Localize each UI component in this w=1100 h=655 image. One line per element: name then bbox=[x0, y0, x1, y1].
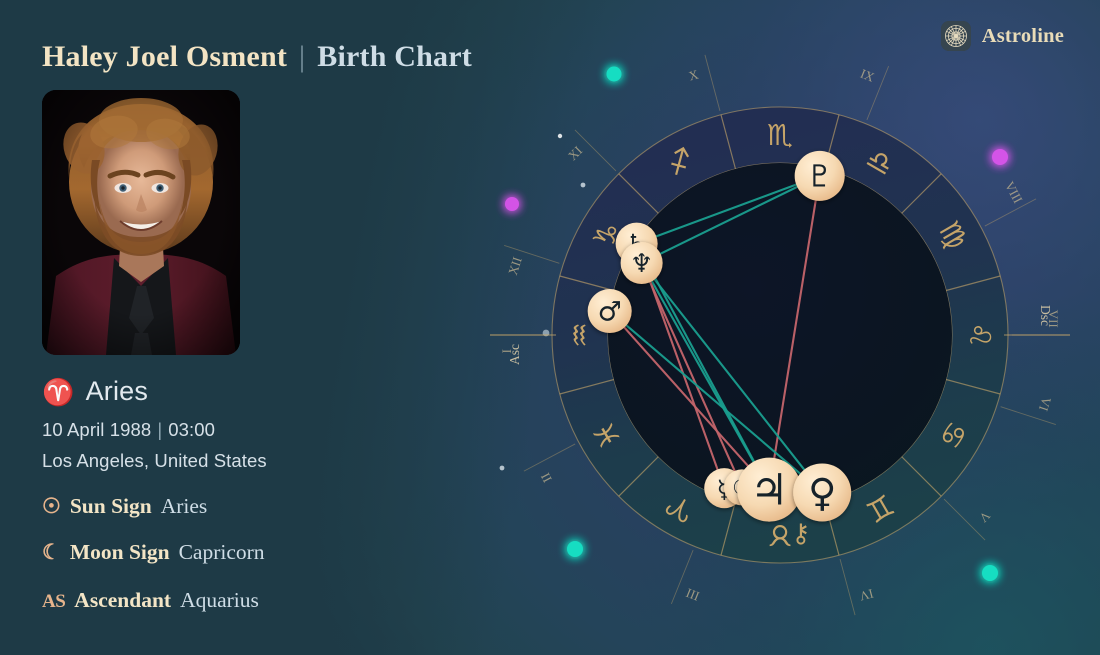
house-label-VI: VI bbox=[1036, 395, 1055, 413]
house-label-VIII: VIII bbox=[1002, 179, 1026, 206]
star-dot bbox=[558, 134, 562, 138]
ascendant-label: Ascendant bbox=[74, 588, 171, 613]
sun-sign-headline: ♈ Aries bbox=[42, 376, 148, 407]
birth-datetime: 10 April 1988|03:00 bbox=[42, 419, 215, 441]
house-label-II: II bbox=[537, 470, 554, 485]
sun-sign-name: Aries bbox=[86, 376, 149, 407]
birth-date: 10 April 1988 bbox=[42, 419, 151, 440]
glow-dot bbox=[607, 67, 622, 82]
planet-marker-pluto[interactable]: ♇ bbox=[795, 151, 845, 201]
house-label-XII: XII bbox=[505, 255, 525, 277]
star-dot bbox=[500, 466, 505, 471]
aries-glyph-icon: ♈ bbox=[42, 379, 75, 405]
planet-glyph-neptune: ♆ bbox=[630, 249, 653, 279]
planet-glyph-mars: ♂ bbox=[598, 297, 622, 328]
moon-sign-value: Capricorn bbox=[179, 540, 265, 565]
birth-chart-svg[interactable]: IIIIIIIVVVIVIIVIIIIXXXIXII ♒♓♈♉♊♋♌♍♎♏♐♑ … bbox=[490, 47, 1070, 627]
house-label-III: III bbox=[684, 585, 702, 604]
house-label-IX: IX bbox=[858, 66, 877, 85]
planet-marker-mars[interactable]: ♂ bbox=[588, 289, 632, 333]
asc-label: Asc bbox=[507, 344, 522, 365]
screenshot-root: Astroline Haley Joel Osment|Birth Chart bbox=[0, 0, 1100, 655]
glyph-chiron: ⚷ bbox=[791, 519, 810, 549]
house-cusp-II bbox=[524, 444, 575, 471]
brand-name: Astroline bbox=[982, 25, 1064, 48]
sun-sign-value: Aries bbox=[161, 494, 208, 519]
sun-icon: ☉ bbox=[42, 496, 61, 517]
glow-dot bbox=[505, 197, 519, 211]
moon-sign-row: ☾ Moon Sign Capricorn bbox=[42, 540, 265, 565]
glow-dot bbox=[992, 149, 1008, 165]
sun-sign-row: ☉ Sun Sign Aries bbox=[42, 494, 207, 519]
house-label-V: V bbox=[976, 508, 994, 526]
birth-place: Los Angeles, United States bbox=[42, 450, 267, 472]
glow-dot bbox=[982, 565, 998, 581]
sun-sign-label: Sun Sign bbox=[70, 494, 152, 519]
inner-body-glyphs: ⚷ bbox=[791, 519, 810, 549]
planet-marker-jupiter[interactable]: ♃ bbox=[737, 458, 801, 522]
zodiac-glyph-leo: ♌ bbox=[963, 322, 997, 348]
planet-glyph-jupiter: ♃ bbox=[750, 466, 788, 516]
house-label-IV: IV bbox=[857, 586, 875, 604]
house-cusp-VIII bbox=[985, 199, 1036, 226]
zodiac-glyph-taurus: ♉ bbox=[767, 518, 793, 552]
house-cusp-V bbox=[944, 499, 985, 540]
moon-icon: ☾ bbox=[42, 542, 61, 563]
planet-marker-venus[interactable]: ♀ bbox=[793, 463, 851, 521]
person-name: Haley Joel Osment bbox=[42, 40, 287, 73]
house-label-X: X bbox=[687, 66, 701, 83]
title-subtitle: Birth Chart bbox=[317, 40, 472, 73]
dsc-label: Dsc bbox=[1038, 305, 1053, 326]
zodiac-glyph-scorpio: ♏ bbox=[767, 118, 793, 152]
star-dot bbox=[581, 183, 586, 188]
ascendant-row: AS Ascendant Aquarius bbox=[42, 588, 259, 613]
glow-dot bbox=[567, 541, 583, 557]
house-cusp-IV bbox=[840, 559, 855, 615]
title-divider: | bbox=[299, 40, 305, 73]
house-cusp-X bbox=[705, 55, 720, 111]
moon-sign-label: Moon Sign bbox=[70, 540, 170, 565]
zodiac-glyph-aquarius: ♒ bbox=[563, 322, 597, 348]
datetime-separator: | bbox=[157, 419, 162, 440]
planet-marker-neptune[interactable]: ♆ bbox=[621, 242, 663, 284]
planet-glyph-venus: ♀ bbox=[808, 471, 836, 516]
portrait-photo bbox=[42, 90, 240, 355]
ascendant-icon: AS bbox=[42, 592, 65, 611]
ascendant-value: Aquarius bbox=[180, 588, 259, 613]
birth-chart-wheel[interactable]: IIIIIIIVVVIVIIVIIIIXXXIXII ♒♓♈♉♊♋♌♍♎♏♐♑ … bbox=[490, 47, 1070, 627]
page-title: Haley Joel Osment|Birth Chart bbox=[42, 40, 472, 74]
house-label-XI: XI bbox=[565, 143, 585, 163]
planet-glyph-pluto: ♇ bbox=[806, 159, 833, 194]
birth-time: 03:00 bbox=[168, 419, 215, 440]
